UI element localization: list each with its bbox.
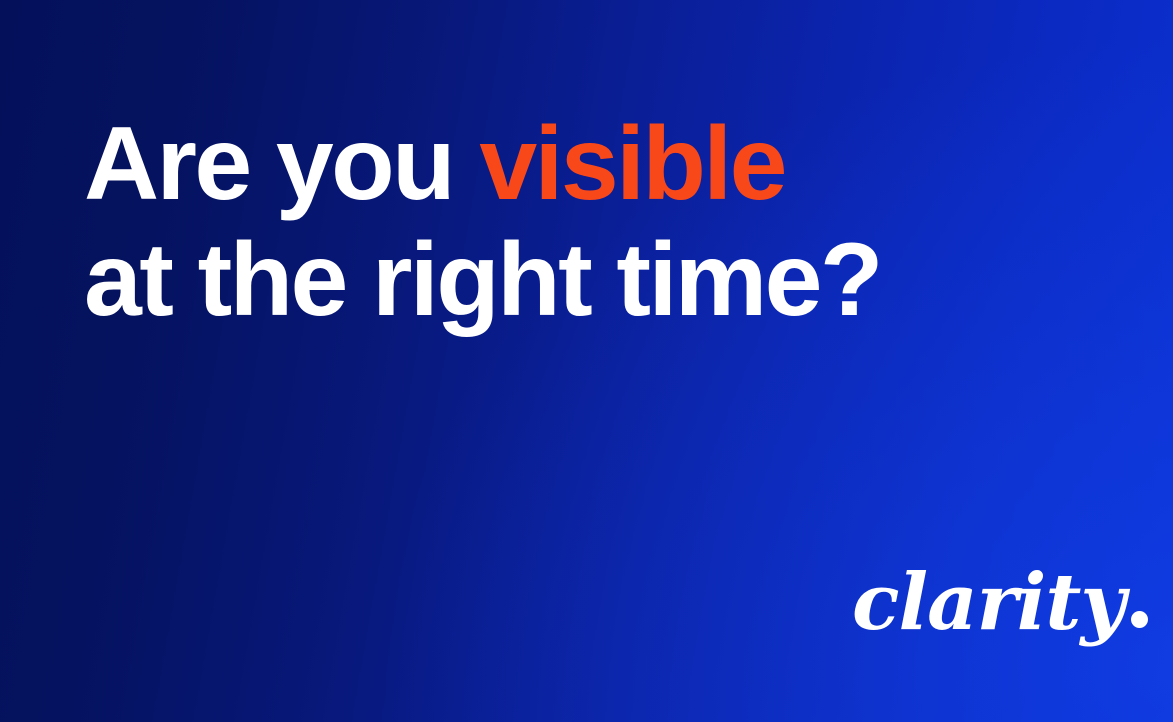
headline-line-1: Are you visible xyxy=(84,106,964,222)
headline-accent-word: visible xyxy=(479,106,785,222)
slide-canvas: Are you visible at the right time? clari… xyxy=(0,0,1173,722)
headline-line-1-prefix: Are you xyxy=(84,106,479,222)
logo-wordmark: clarity xyxy=(852,564,1125,642)
page-title: Are you visible at the right time? xyxy=(84,106,964,338)
headline-line-2: at the right time? xyxy=(84,222,964,338)
clarity-logo: clarity xyxy=(852,564,1148,642)
logo-dot-icon xyxy=(1131,611,1148,628)
